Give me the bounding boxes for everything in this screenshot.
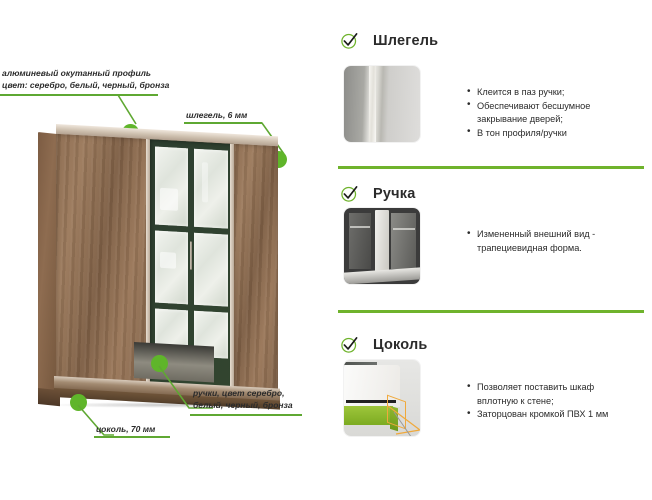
infographic-page: алюминевый окутанный профиль цвет: сереб… <box>0 0 652 500</box>
wardrobe-door-right <box>234 144 278 394</box>
bullet-item: Измененный внешний вид - <box>466 228 595 241</box>
section-plinth: Цоколь Позволяет поставить шкаф <box>330 313 652 500</box>
bullet-item: В тон профиля/ручки <box>466 127 590 140</box>
callout-profile-line2: цвет: серебро, белый, черный, бронза <box>2 80 169 92</box>
section-shlegel: Шлегель Клеится в паз ручки; Обеспечиваю… <box>330 0 652 170</box>
shlegel-photo <box>344 66 420 142</box>
callout-handles-underline <box>190 414 302 416</box>
section-shlegel-title: Шлегель <box>373 33 438 49</box>
section-shlegel-header: Шлегель <box>340 31 438 50</box>
callout-profile-line1: алюминевый окутанный профиль <box>2 68 151 80</box>
section-handle-bullets: Измененный внешний вид - трапециевидная … <box>466 228 595 255</box>
check-circle-icon <box>340 184 359 203</box>
callout-plinth-underline <box>94 436 170 438</box>
section-plinth-header: Цоколь <box>340 335 428 354</box>
section-divider-1 <box>338 166 644 169</box>
door-handle <box>190 241 192 269</box>
bullet-item-cont: трапециевидная форма. <box>466 242 595 255</box>
bullet-item: Заторцован кромкой ПВХ 1 мм <box>466 408 608 421</box>
callout-plinth-line1: цоколь, 70 мм <box>96 424 155 436</box>
features-pane: Шлегель Клеится в паз ручки; Обеспечиваю… <box>330 0 652 500</box>
check-circle-icon <box>340 335 359 354</box>
callout-handles-line2: белый, черный, бронза <box>193 400 293 412</box>
bullet-item: Обеспечивают бесшумное <box>466 100 590 113</box>
section-plinth-bullets: Позволяет поставить шкаф вплотную к стен… <box>466 381 608 422</box>
handle-photo <box>344 208 420 284</box>
section-handle: Ручка Измененный внешний вид - трапециев… <box>330 170 652 313</box>
bullet-item: Позволяет поставить шкаф <box>466 381 608 394</box>
bullet-item-cont: вплотную к стене; <box>466 395 608 408</box>
callout-handles-line1: ручки, цвет серебро, <box>193 388 284 400</box>
section-shlegel-bullets: Клеится в паз ручки; Обеспечивают бесшум… <box>466 86 590 140</box>
check-circle-icon <box>340 31 359 50</box>
bullet-item: Клеится в паз ручки; <box>466 86 590 99</box>
product-illustration-pane: алюминевый окутанный профиль цвет: сереб… <box>0 0 330 500</box>
section-plinth-title: Цоколь <box>373 337 428 353</box>
bullet-item-cont: закрывание дверей; <box>466 113 590 126</box>
plinth-photo <box>344 360 420 436</box>
section-handle-header: Ручка <box>340 184 415 203</box>
section-handle-title: Ручка <box>373 186 415 202</box>
